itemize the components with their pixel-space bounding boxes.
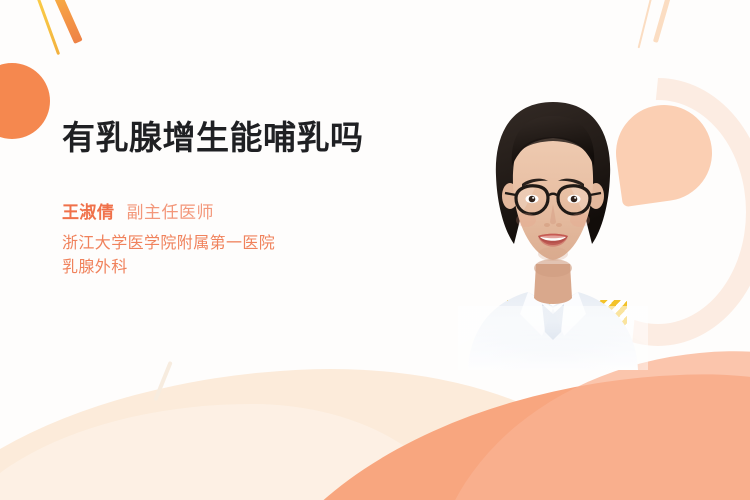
hospital-name: 浙江大学医学院附属第一医院 (62, 232, 422, 256)
department-name: 乳腺外科 (62, 256, 422, 280)
cream-wave-shape (0, 352, 647, 500)
byline: 王淑倩 副主任医师 (62, 198, 422, 223)
doctor-title: 副主任医师 (127, 198, 215, 223)
top-right-peach-stripe-thick (653, 0, 675, 43)
page-title: 有乳腺增生能哺乳吗 (62, 118, 402, 158)
text-block: 有乳腺增生能哺乳吗 王淑倩 副主任医师 浙江大学医学院附属第一医院 乳腺外科 (62, 118, 422, 280)
doctor-portrait (458, 92, 648, 370)
top-left-orange-stripe (46, 0, 83, 44)
video-cover-card: 有乳腺增生能哺乳吗 王淑倩 副主任医师 浙江大学医学院附属第一医院 乳腺外科 (0, 0, 750, 500)
top-left-yellow-stripe (30, 0, 60, 55)
doctor-name: 王淑倩 (62, 198, 115, 223)
faint-cream-stripe-decoration (153, 361, 172, 401)
orange-circle-decoration (0, 63, 50, 139)
salmon-wave-shape-inner (427, 347, 750, 500)
cream-wave-shape-inner (0, 404, 460, 500)
salmon-wave-shape (226, 366, 750, 500)
top-right-peach-stripe-thin (638, 0, 658, 48)
